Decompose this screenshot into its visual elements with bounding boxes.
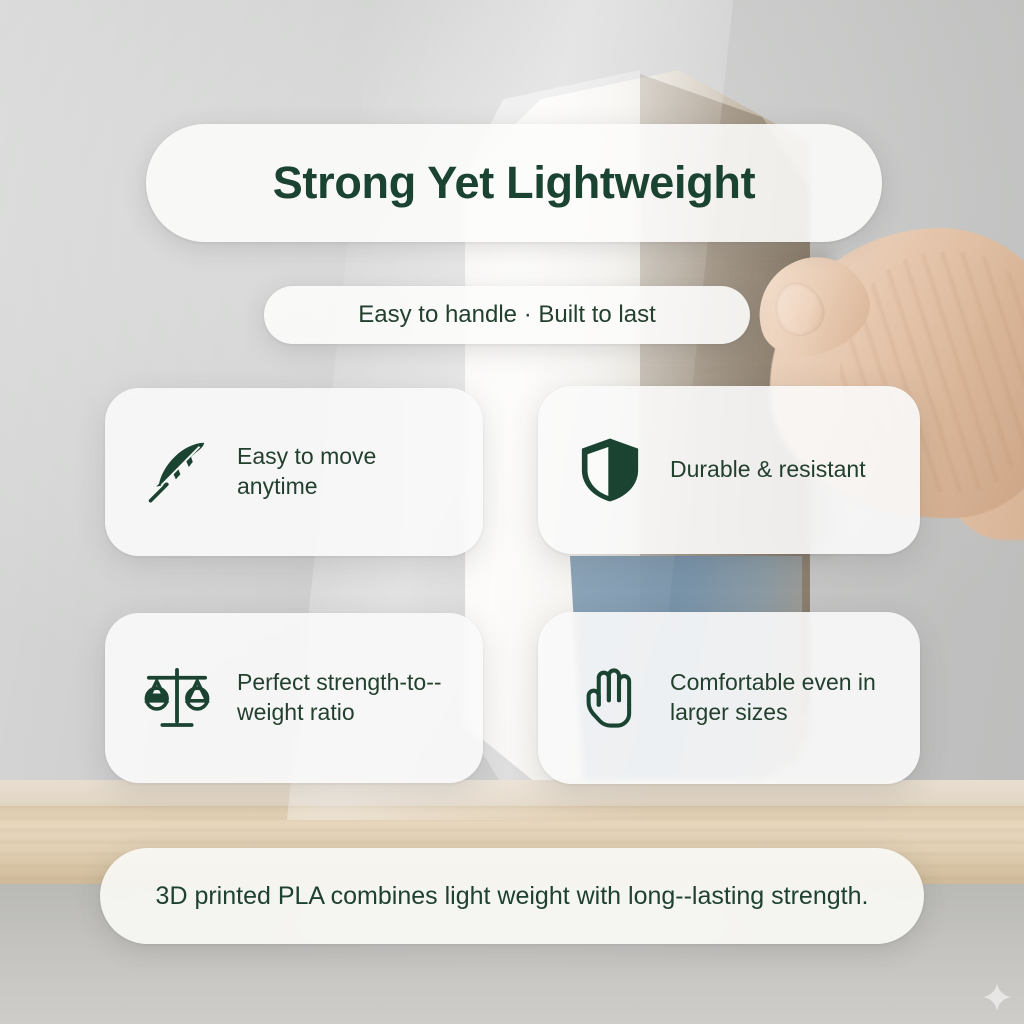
open-hand-icon (572, 660, 648, 736)
title-banner: Strong Yet Lightweight (146, 124, 882, 242)
scales-icon (139, 660, 215, 736)
feature-card-durable[interactable]: Durable & resistant (538, 386, 920, 554)
feature-label: Perfect strength-to--weight ratio (237, 668, 461, 728)
feature-label: Easy to move anytime (237, 442, 461, 502)
footer-description: 3D printed PLA combines light weight wit… (156, 880, 869, 913)
subtitle-banner: Easy to handle · Built to last (264, 286, 750, 344)
footer-banner: 3D printed PLA combines light weight wit… (100, 848, 924, 944)
feature-card-strength-to-weight[interactable]: Perfect strength-to--weight ratio (105, 613, 483, 783)
page-title: Strong Yet Lightweight (273, 157, 756, 209)
feature-label: Comfortable even in larger sizes (670, 668, 898, 728)
infographic-overlay: Strong Yet Lightweight Easy to handle · … (0, 0, 1024, 1024)
shield-icon (572, 432, 648, 508)
sparkle-icon (982, 982, 1012, 1012)
feature-card-comfortable[interactable]: Comfortable even in larger sizes (538, 612, 920, 784)
page-subtitle: Easy to handle · Built to last (358, 301, 656, 329)
feature-card-easy-to-move[interactable]: Easy to move anytime (105, 388, 483, 556)
feather-icon (139, 434, 215, 510)
feature-label: Durable & resistant (670, 455, 866, 485)
